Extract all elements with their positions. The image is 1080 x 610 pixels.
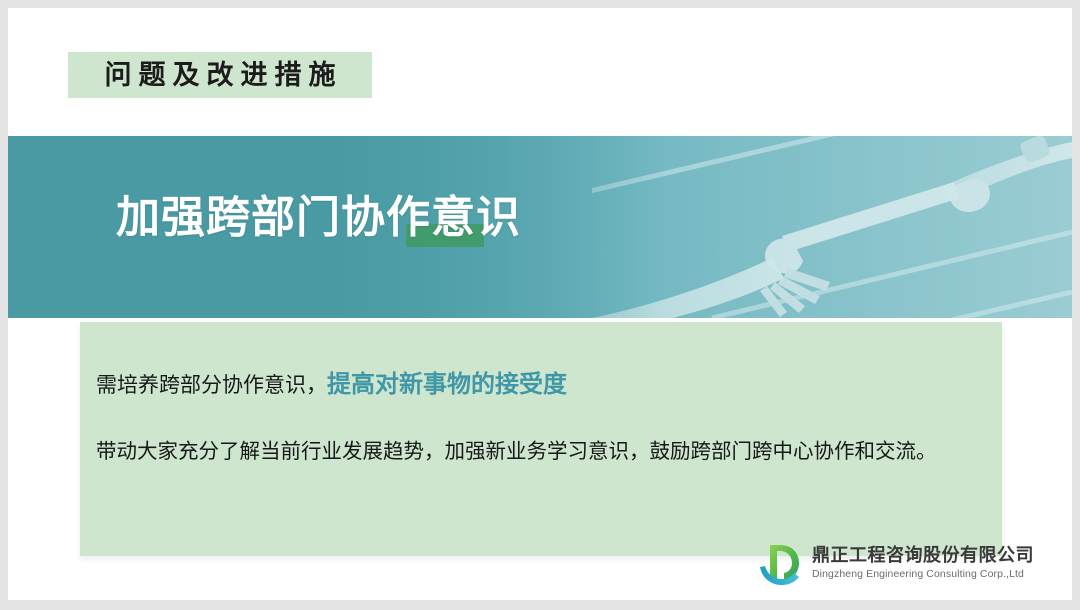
content-line-1-plain: 需培养跨部分协作意识， (96, 374, 327, 397)
relay-baton-photo (592, 136, 1072, 318)
section-label-text: 问题及改进措施 (98, 62, 343, 89)
company-logo-text: 鼎正工程咨询股份有限公司 Dingzheng Engineering Consu… (812, 545, 1034, 580)
hero-banner: 加强跨部门协作意识 (8, 136, 1072, 318)
company-logo: 鼎正工程咨询股份有限公司 Dingzheng Engineering Consu… (756, 536, 1006, 590)
section-label-chip: 问题及改进措施 (68, 52, 372, 98)
company-name-en: Dingzheng Engineering Consulting Corp.,L… (812, 568, 1034, 581)
content-line-1: 需培养跨部分协作意识，提高对新事物的接受度 (96, 368, 567, 402)
hero-title-text: 加强跨部门协作意识 (116, 196, 521, 240)
content-line-1-accent: 提高对新事物的接受度 (327, 371, 567, 398)
content-line-2: 带动大家充分了解当前行业发展趋势，加强新业务学习意识，鼓励跨部门跨中心协作和交流… (96, 438, 937, 467)
dingzheng-logo-icon (756, 539, 804, 587)
content-panel: 需培养跨部分协作意识，提高对新事物的接受度 带动大家充分了解当前行业发展趋势，加… (80, 322, 1002, 556)
slide-canvas: 问题及改进措施 (8, 8, 1072, 600)
company-name-cn: 鼎正工程咨询股份有限公司 (812, 545, 1034, 566)
bottom-gutter (0, 600, 1080, 610)
slide-viewport: 问题及改进措施 (0, 0, 1080, 610)
hero-title-group: 加强跨部门协作意识 (116, 188, 521, 248)
